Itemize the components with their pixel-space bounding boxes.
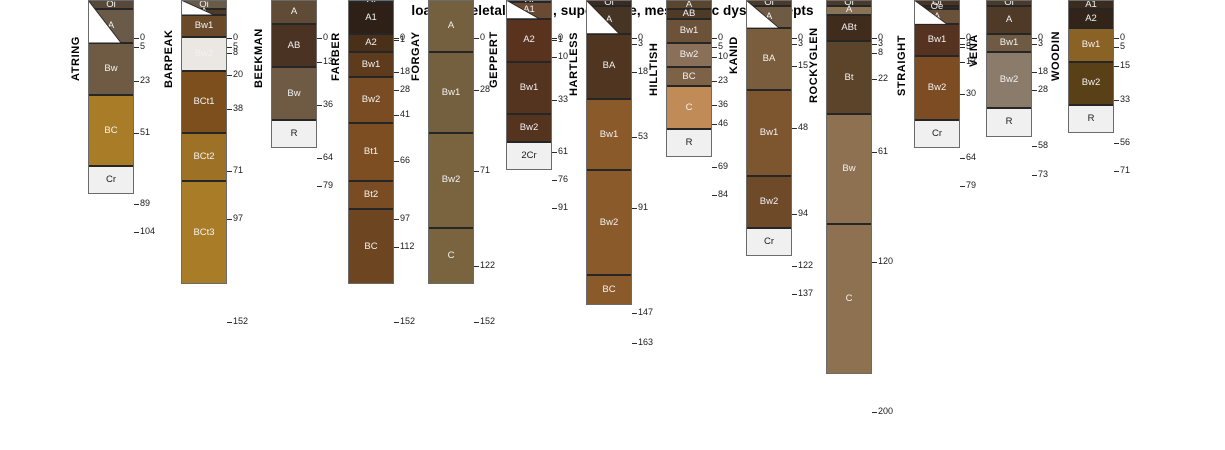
depth-tick [872, 53, 877, 54]
horizon-label: C [826, 294, 872, 304]
depth-value-label: 28 [1038, 85, 1048, 94]
horizon-label: A [428, 21, 474, 31]
depth-value-label: 71 [1120, 166, 1130, 175]
depth-value-label: 66 [400, 156, 410, 165]
depth-value-label: 64 [966, 153, 976, 162]
horizon-label: BCt1 [181, 97, 227, 107]
depth-tick [134, 232, 139, 233]
depth-value-label: 15 [1120, 61, 1130, 70]
horizon-label: Bw [271, 89, 317, 99]
depth-value-label: 23 [140, 76, 150, 85]
depth-value-label: 48 [798, 123, 808, 132]
depth-tick [227, 47, 232, 48]
depth-tick [960, 62, 965, 63]
depth-tick [712, 167, 717, 168]
horizon-label: Bw1 [914, 35, 960, 45]
profile-name-label: ATRING [70, 36, 82, 81]
horizon-label: A1 [348, 13, 394, 23]
profile-name-label: GEPPERT [488, 32, 500, 89]
horizon-wedge-overlay [88, 0, 134, 44]
depth-tick [394, 90, 399, 91]
depth-tick [394, 40, 399, 41]
depth-tick [960, 186, 965, 187]
depth-tick [712, 124, 717, 125]
horizon-label: BA [746, 54, 792, 64]
horizon-label: Bw2 [986, 75, 1032, 85]
depth-value-label: 20 [233, 70, 243, 79]
depth-tick [394, 72, 399, 73]
depth-value-label: 76 [558, 175, 568, 184]
depth-value-label: 104 [140, 227, 155, 236]
depth-value-label: 18 [1038, 67, 1048, 76]
horizon-label: Bt [826, 73, 872, 83]
depth-tick [712, 47, 717, 48]
depth-value-label: 33 [558, 95, 568, 104]
horizon-label: R [1068, 114, 1114, 124]
horizon-label: A2 [1068, 14, 1114, 24]
depth-tick [712, 38, 717, 39]
depth-value-label: 79 [966, 181, 976, 190]
horizon-label: Bw2 [506, 123, 552, 133]
depth-tick [317, 62, 322, 63]
depth-value-label: 71 [233, 166, 243, 175]
depth-tick [712, 57, 717, 58]
horizon-label: Bw2 [348, 95, 394, 105]
depth-value-label: 8 [878, 48, 883, 57]
depth-value-label: 41 [400, 110, 410, 119]
depth-tick [792, 128, 797, 129]
depth-tick [632, 343, 637, 344]
depth-tick [792, 66, 797, 67]
horizon-label: Bw1 [1068, 40, 1114, 50]
profile-name-label: HILLTISH [648, 42, 660, 95]
profile-name-label: FARBER [330, 32, 342, 81]
depth-tick [632, 313, 637, 314]
depth-value-label: 58 [1038, 141, 1048, 150]
depth-value-label: 36 [323, 100, 333, 109]
horizon-label: Bw2 [746, 197, 792, 207]
depth-tick [552, 40, 557, 41]
depth-tick [394, 38, 399, 39]
depth-value-label: 33 [1120, 95, 1130, 104]
depth-tick [1114, 47, 1119, 48]
depth-tick [1114, 66, 1119, 67]
depth-tick [872, 152, 877, 153]
depth-tick [1032, 90, 1037, 91]
depth-tick [1032, 44, 1037, 45]
depth-value-label: 163 [638, 338, 653, 347]
depth-tick [792, 44, 797, 45]
horizon-label: A2 [506, 35, 552, 45]
horizon-label: A [986, 15, 1032, 25]
horizon-label: Bw [826, 164, 872, 174]
horizon-label: Bt1 [348, 147, 394, 157]
horizon-label: Bw1 [181, 21, 227, 31]
horizon-label: Bw2 [914, 83, 960, 93]
depth-value-label: 91 [558, 203, 568, 212]
depth-value-label: 38 [233, 104, 243, 113]
horizon-label: Bw2 [428, 175, 474, 185]
horizon-label: Cr [914, 129, 960, 139]
depth-value-label: 15 [798, 61, 808, 70]
depth-value-label: 0 [480, 33, 485, 42]
horizon-wedge-overlay [506, 0, 552, 20]
soil-profiles-area: ATRINGOiABwBCCr05235189104BARPEAKOiABw1B… [0, 0, 1225, 450]
depth-value-label: 120 [878, 257, 893, 266]
depth-value-label: 10 [718, 52, 728, 61]
horizon-label: Cr [746, 237, 792, 247]
horizon-label: BCt3 [181, 228, 227, 238]
depth-tick [394, 247, 399, 248]
depth-value-label: 36 [718, 100, 728, 109]
depth-value-label: 73 [1038, 170, 1048, 179]
horizon-label: Bw1 [506, 83, 552, 93]
depth-tick [792, 38, 797, 39]
depth-value-label: 5 [140, 42, 145, 51]
depth-value-label: 147 [638, 308, 653, 317]
depth-tick [632, 38, 637, 39]
horizon-label: R [271, 129, 317, 139]
horizon-label: Bw1 [746, 128, 792, 138]
horizon-label: A [271, 7, 317, 17]
depth-tick [394, 322, 399, 323]
depth-value-label: 94 [798, 209, 808, 218]
depth-value-label: 53 [638, 132, 648, 141]
depth-tick [792, 294, 797, 295]
depth-tick [960, 47, 965, 48]
horizon-label: BCt2 [181, 152, 227, 162]
depth-tick [1032, 38, 1037, 39]
depth-tick [134, 133, 139, 134]
depth-tick [872, 38, 877, 39]
horizon-label: A1 [1068, 0, 1114, 9]
depth-tick [134, 81, 139, 82]
horizon-label: Bw2 [666, 50, 712, 60]
horizon-label: Bw2 [586, 218, 632, 228]
horizon-wedge-overlay [586, 0, 632, 35]
depth-value-label: 22 [878, 74, 888, 83]
depth-value-label: 30 [966, 89, 976, 98]
depth-value-label: 56 [1120, 138, 1130, 147]
depth-value-label: 64 [323, 153, 333, 162]
depth-value-label: 97 [233, 214, 243, 223]
depth-value-label: 28 [400, 85, 410, 94]
depth-value-label: 23 [718, 76, 728, 85]
depth-tick [474, 90, 479, 91]
horizon-label: Bw [88, 64, 134, 74]
horizon-label: R [986, 117, 1032, 127]
depth-tick [552, 152, 557, 153]
depth-value-label: 152 [233, 317, 248, 326]
depth-tick [792, 214, 797, 215]
depth-tick [552, 57, 557, 58]
horizon-label: R [666, 138, 712, 148]
depth-value-label: 84 [718, 190, 728, 199]
depth-value-label: 8 [233, 48, 238, 57]
depth-value-label: 3 [1038, 39, 1043, 48]
depth-tick [134, 47, 139, 48]
depth-tick [227, 75, 232, 76]
depth-value-label: 1 [558, 35, 563, 44]
profile-name-label: WOODIN [1050, 31, 1062, 81]
horizon-label: ABt [826, 23, 872, 33]
depth-tick [227, 219, 232, 220]
depth-value-label: 200 [878, 407, 893, 416]
depth-tick [872, 262, 877, 263]
horizon-label: Cr [88, 175, 134, 185]
depth-value-label: 89 [140, 199, 150, 208]
horizon-label: BA [586, 61, 632, 71]
horizon-label: Bw2 [1068, 78, 1114, 88]
horizon-label: BC [88, 126, 134, 136]
depth-value-label: 137 [798, 289, 813, 298]
horizon-label: C [666, 103, 712, 113]
depth-tick [474, 38, 479, 39]
depth-tick [1032, 175, 1037, 176]
depth-tick [474, 322, 479, 323]
depth-tick [712, 105, 717, 106]
depth-tick [632, 137, 637, 138]
horizon-label: Bw1 [428, 88, 474, 98]
depth-tick [317, 38, 322, 39]
profile-name-label: KANID [728, 36, 740, 74]
horizon-label: Bw1 [348, 60, 394, 70]
profile-name-label: FORGAY [410, 32, 422, 82]
depth-tick [712, 81, 717, 82]
depth-tick [792, 266, 797, 267]
horizon-label: 2Cr [506, 151, 552, 161]
depth-tick [960, 94, 965, 95]
depth-tick [1114, 171, 1119, 172]
depth-value-label: 152 [480, 317, 495, 326]
horizon-wedge-overlay [746, 0, 792, 29]
depth-tick [1114, 143, 1119, 144]
depth-tick [872, 79, 877, 80]
profile-name-label: BARPEAK [163, 30, 175, 89]
depth-tick [227, 109, 232, 110]
depth-value-label: 112 [400, 242, 414, 251]
depth-tick [474, 171, 479, 172]
depth-tick [632, 72, 637, 73]
depth-tick [227, 171, 232, 172]
depth-tick [317, 186, 322, 187]
depth-tick [712, 195, 717, 196]
depth-tick [317, 105, 322, 106]
horizon-label: AB [666, 9, 712, 19]
depth-value-label: 122 [480, 261, 495, 270]
depth-tick [317, 158, 322, 159]
profile-name-label: STRAIGHT [896, 35, 908, 96]
depth-tick [960, 38, 965, 39]
horizon-label: Bt2 [348, 190, 394, 200]
profile-name-label: VENA [968, 34, 980, 67]
depth-tick [552, 38, 557, 39]
horizon-label: A2 [348, 38, 394, 48]
depth-tick [1032, 146, 1037, 147]
depth-value-label: 61 [558, 147, 568, 156]
depth-value-label: 152 [400, 317, 415, 326]
depth-tick [872, 44, 877, 45]
depth-value-label: 1 [400, 35, 405, 44]
depth-tick [632, 208, 637, 209]
horizon-label: Bw2 [181, 49, 227, 59]
depth-tick [960, 44, 965, 45]
depth-value-label: 71 [480, 166, 490, 175]
depth-tick [227, 322, 232, 323]
depth-tick [227, 38, 232, 39]
depth-value-label: 18 [638, 67, 648, 76]
depth-tick [872, 412, 877, 413]
depth-tick [394, 219, 399, 220]
depth-tick [134, 38, 139, 39]
depth-value-label: 3 [798, 39, 803, 48]
depth-tick [960, 158, 965, 159]
profile-name-label: HARTLESS [568, 32, 580, 96]
horizon-wedge-overlay [914, 0, 960, 25]
depth-value-label: 122 [798, 261, 813, 270]
horizon-label: Bw1 [986, 38, 1032, 48]
depth-value-label: 61 [878, 147, 888, 156]
depth-tick [1114, 100, 1119, 101]
depth-tick [632, 44, 637, 45]
horizon-wedge-overlay [181, 0, 227, 16]
depth-value-label: 51 [140, 128, 150, 137]
depth-value-label: 91 [638, 203, 648, 212]
depth-tick [134, 204, 139, 205]
horizon-label: C [428, 251, 474, 261]
depth-value-label: 0 [323, 33, 328, 42]
depth-value-label: 79 [323, 181, 333, 190]
depth-value-label: 5 [718, 42, 723, 51]
depth-tick [552, 100, 557, 101]
depth-tick [394, 161, 399, 162]
depth-value-label: 97 [400, 214, 410, 223]
horizon-label: Bw1 [666, 26, 712, 36]
profile-name-label: BEEKMAN [253, 29, 265, 89]
depth-tick [1032, 72, 1037, 73]
depth-tick [552, 208, 557, 209]
depth-value-label: 46 [718, 119, 728, 128]
depth-value-label: 18 [400, 67, 410, 76]
depth-tick [552, 180, 557, 181]
profile-name-label: ROCKYGLEN [808, 27, 820, 103]
depth-value-label: 69 [718, 162, 728, 171]
horizon-label: BC [586, 285, 632, 295]
horizon-label: AB [271, 41, 317, 51]
depth-tick [1114, 38, 1119, 39]
horizon-label: BC [348, 242, 394, 252]
horizon-label: A [826, 5, 872, 15]
depth-value-label: 3 [638, 39, 643, 48]
depth-tick [474, 266, 479, 267]
depth-tick [394, 115, 399, 116]
depth-value-label: 10 [558, 52, 568, 61]
horizon-label: BC [666, 72, 712, 82]
depth-value-label: 5 [1120, 42, 1125, 51]
depth-tick [227, 53, 232, 54]
horizon-label: Bw1 [586, 130, 632, 140]
